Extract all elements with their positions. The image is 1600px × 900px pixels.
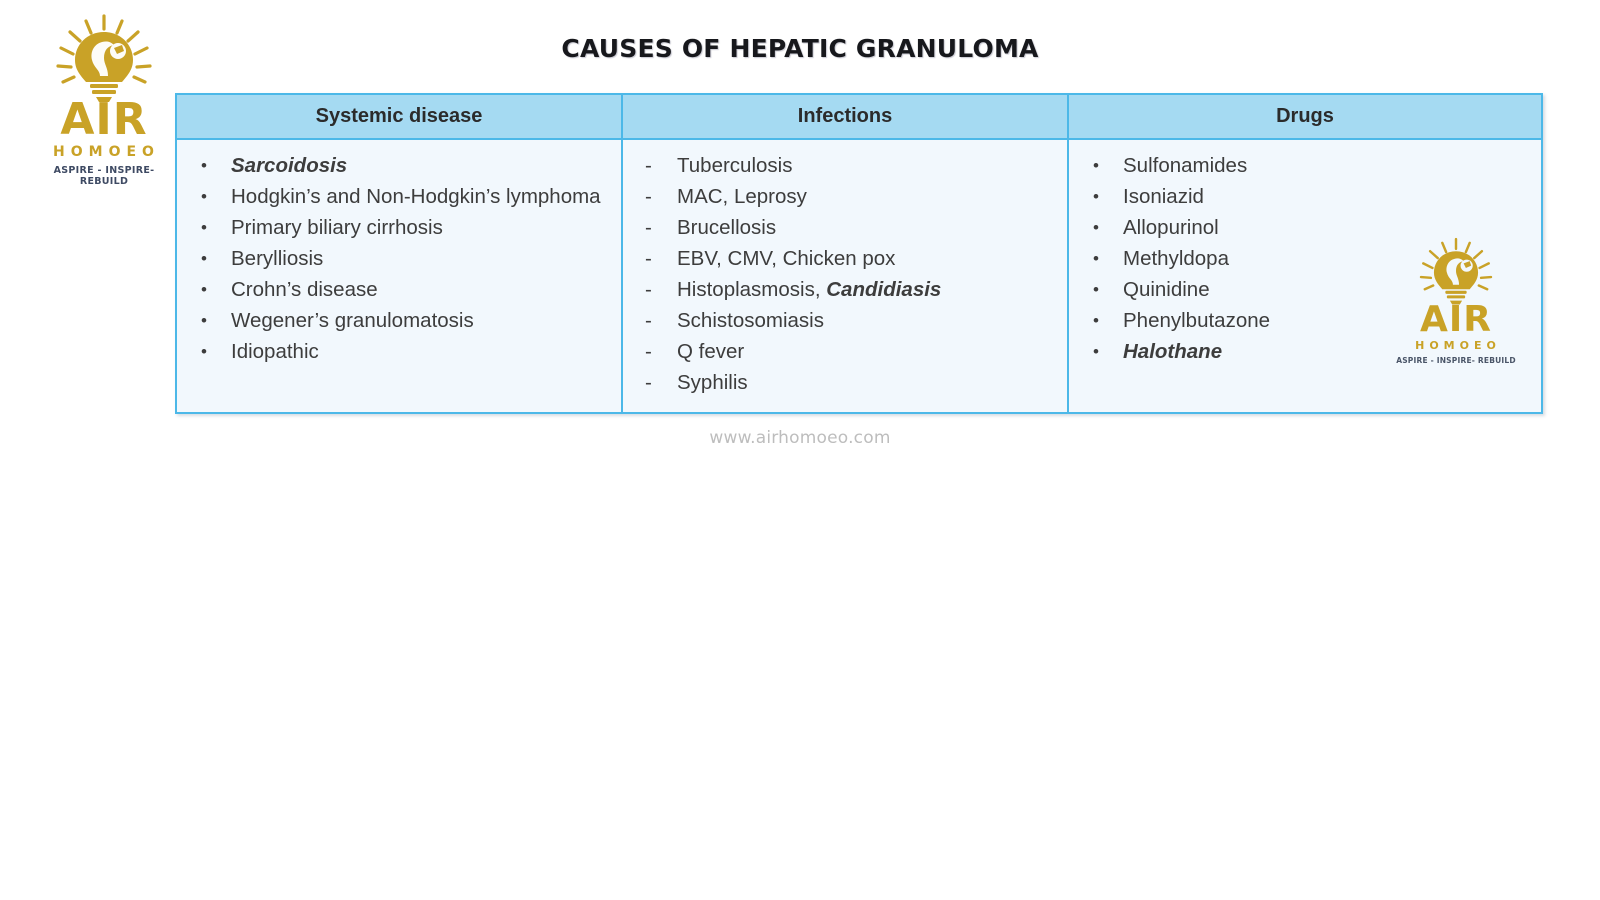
list-bullet: • bbox=[1093, 181, 1099, 212]
list-item-label: Histoplasmosis, Candidiasis bbox=[677, 278, 941, 301]
list-item-label: Sarcoidosis bbox=[231, 154, 347, 177]
column-cell-infections: -Tuberculosis-MAC, Leprosy-Brucellosis-E… bbox=[623, 140, 1069, 412]
list-bullet: - bbox=[645, 305, 652, 336]
list-item-label: Primary biliary cirrhosis bbox=[231, 216, 443, 239]
column-header-infections: Infections bbox=[623, 95, 1069, 138]
list-bullet: • bbox=[201, 212, 207, 243]
list-bullet: • bbox=[1093, 243, 1099, 274]
page-title: CAUSES OF HEPATIC GRANULOMA bbox=[0, 34, 1600, 63]
systemic-disease-list: •Sarcoidosis•Hodgkin’s and Non-Hodgkin’s… bbox=[187, 150, 621, 367]
list-item: -EBV, CMV, Chicken pox bbox=[633, 243, 1067, 274]
brand-tagline: ASPIRE - INSPIRE- REBUILD bbox=[34, 165, 174, 187]
list-bullet: • bbox=[201, 336, 207, 367]
list-bullet: • bbox=[1093, 150, 1099, 181]
list-item-label: Crohn’s disease bbox=[231, 278, 378, 301]
site-url: www.airhomoeo.com bbox=[0, 428, 1600, 448]
list-item: -Histoplasmosis, Candidiasis bbox=[633, 274, 1067, 305]
list-item: •Primary biliary cirrhosis bbox=[187, 212, 621, 243]
list-bullet: • bbox=[201, 150, 207, 181]
list-item: -Tuberculosis bbox=[633, 150, 1067, 181]
list-item-label: Phenylbutazone bbox=[1123, 309, 1270, 332]
list-item-label: Berylliosis bbox=[231, 247, 323, 270]
causes-table: Systemic disease Infections Drugs •Sarco… bbox=[175, 93, 1543, 414]
list-item-label: Schistosomiasis bbox=[677, 309, 824, 332]
list-item: -Q fever bbox=[633, 336, 1067, 367]
list-item-label: Hodgkin’s and Non-Hodgkin’s lymphoma bbox=[231, 185, 601, 208]
list-item: -MAC, Leprosy bbox=[633, 181, 1067, 212]
list-item-label: Allopurinol bbox=[1123, 216, 1219, 239]
list-item: •Hodgkin’s and Non-Hodgkin’s lymphoma bbox=[187, 181, 621, 212]
list-item-label: Wegener’s granulomatosis bbox=[231, 309, 474, 332]
list-bullet: - bbox=[645, 367, 652, 398]
table-header-row: Systemic disease Infections Drugs bbox=[177, 95, 1541, 140]
list-item-label: Tuberculosis bbox=[677, 154, 792, 177]
list-bullet: • bbox=[1093, 212, 1099, 243]
emphasized-term: Halothane bbox=[1123, 340, 1222, 363]
list-item-label: EBV, CMV, Chicken pox bbox=[677, 247, 895, 270]
brand-name: AIR bbox=[34, 100, 174, 140]
list-bullet: - bbox=[645, 150, 652, 181]
list-bullet: - bbox=[645, 181, 652, 212]
list-bullet: • bbox=[1093, 336, 1099, 367]
list-item: •Phenylbutazone bbox=[1079, 305, 1541, 336]
list-item-label: Halothane bbox=[1123, 340, 1222, 363]
list-item-label: Brucellosis bbox=[677, 216, 776, 239]
list-item: -Brucellosis bbox=[633, 212, 1067, 243]
list-bullet: • bbox=[1093, 305, 1099, 336]
column-cell-drugs: •Sulfonamides•Isoniazid•Allopurinol•Meth… bbox=[1069, 140, 1541, 412]
list-item: •Sarcoidosis bbox=[187, 150, 621, 181]
list-item: -Schistosomiasis bbox=[633, 305, 1067, 336]
list-item-label: Isoniazid bbox=[1123, 185, 1204, 208]
list-item: •Halothane bbox=[1079, 336, 1541, 367]
list-item: •Quinidine bbox=[1079, 274, 1541, 305]
list-item-label: MAC, Leprosy bbox=[677, 185, 807, 208]
column-header-drugs: Drugs bbox=[1069, 95, 1541, 138]
list-bullet: - bbox=[645, 274, 652, 305]
list-item-label: Methyldopa bbox=[1123, 247, 1229, 270]
list-item: •Crohn’s disease bbox=[187, 274, 621, 305]
list-item-label: Sulfonamides bbox=[1123, 154, 1247, 177]
list-item: -Syphilis bbox=[633, 367, 1067, 398]
list-bullet: • bbox=[201, 305, 207, 336]
list-item-label: Quinidine bbox=[1123, 278, 1210, 301]
column-header-systemic-disease: Systemic disease bbox=[177, 95, 623, 138]
list-bullet: • bbox=[1093, 274, 1099, 305]
list-item-label: Q fever bbox=[677, 340, 744, 363]
list-item: •Isoniazid bbox=[1079, 181, 1541, 212]
list-bullet: - bbox=[645, 336, 652, 367]
emphasized-term: Candidiasis bbox=[826, 278, 941, 301]
table-body-row: •Sarcoidosis•Hodgkin’s and Non-Hodgkin’s… bbox=[177, 140, 1541, 412]
list-bullet: - bbox=[645, 212, 652, 243]
list-bullet: • bbox=[201, 181, 207, 212]
list-item: •Allopurinol bbox=[1079, 212, 1541, 243]
list-item: •Idiopathic bbox=[187, 336, 621, 367]
list-item: •Methyldopa bbox=[1079, 243, 1541, 274]
list-item: •Sulfonamides bbox=[1079, 150, 1541, 181]
emphasized-term: Sarcoidosis bbox=[231, 154, 347, 177]
list-item: •Berylliosis bbox=[187, 243, 621, 274]
list-item-label: Idiopathic bbox=[231, 340, 319, 363]
drugs-list: •Sulfonamides•Isoniazid•Allopurinol•Meth… bbox=[1079, 150, 1541, 367]
list-bullet: - bbox=[645, 243, 652, 274]
brand-subname: HOMOEO bbox=[34, 144, 174, 160]
list-bullet: • bbox=[201, 274, 207, 305]
infections-list: -Tuberculosis-MAC, Leprosy-Brucellosis-E… bbox=[633, 150, 1067, 398]
list-bullet: • bbox=[201, 243, 207, 274]
list-item: •Wegener’s granulomatosis bbox=[187, 305, 621, 336]
list-item-label: Syphilis bbox=[677, 371, 748, 394]
column-cell-systemic-disease: •Sarcoidosis•Hodgkin’s and Non-Hodgkin’s… bbox=[177, 140, 623, 412]
